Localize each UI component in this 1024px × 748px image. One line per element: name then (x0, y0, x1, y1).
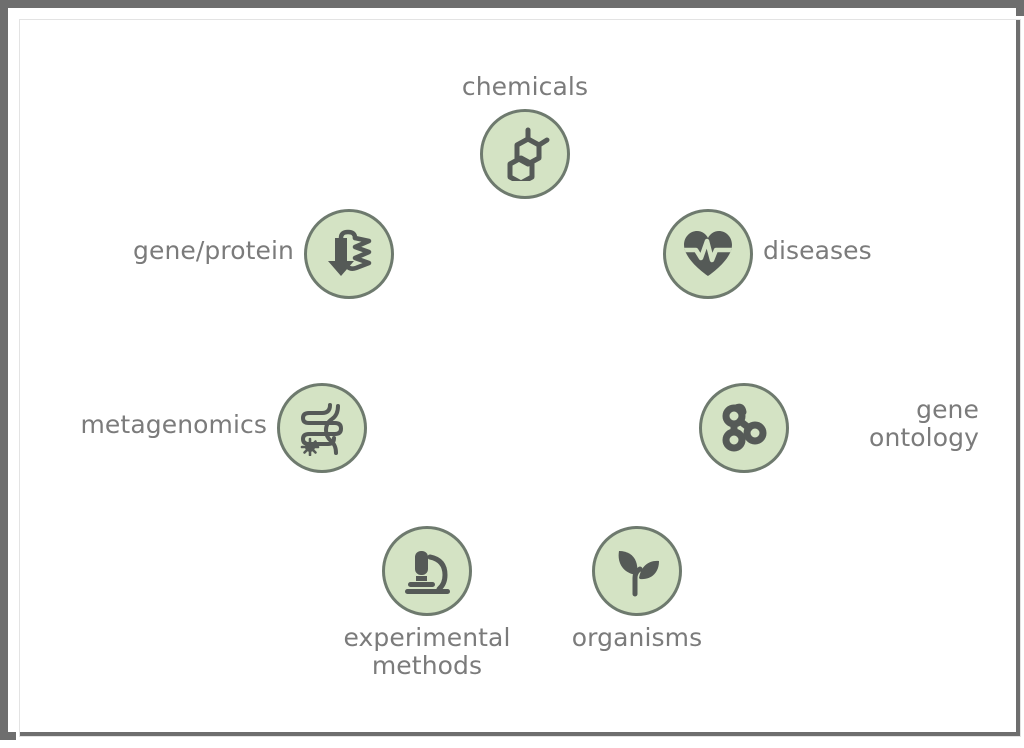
entity-type-diagram: chemicals ge (8, 8, 1024, 748)
diseases-badge[interactable] (663, 209, 753, 299)
gene-expression-icon (323, 228, 375, 280)
gene-ontology-badge[interactable] (699, 383, 789, 473)
gene-protein-badge[interactable] (304, 209, 394, 299)
diseases-label: diseases (763, 237, 1024, 265)
gene-ontology-label: gene ontology (799, 396, 979, 452)
organisms-badge[interactable] (592, 526, 682, 616)
gene-protein-label: gene/protein (0, 237, 294, 265)
chemicals-badge[interactable] (480, 109, 570, 199)
molecule-icon (498, 127, 552, 181)
heart-pulse-icon (681, 229, 735, 279)
experimental-methods-badge[interactable] (382, 526, 472, 616)
metagenomics-label: metagenomics (0, 411, 267, 439)
microscope-icon (400, 546, 454, 596)
seedling-icon (611, 545, 663, 597)
go-rings-icon (718, 402, 770, 454)
organisms-label: organisms (417, 624, 857, 652)
intestine-microbe-icon (294, 400, 350, 456)
figure-frame: chemicals ge (0, 0, 1024, 740)
chemicals-label: chemicals (305, 73, 745, 101)
metagenomics-badge[interactable] (277, 383, 367, 473)
